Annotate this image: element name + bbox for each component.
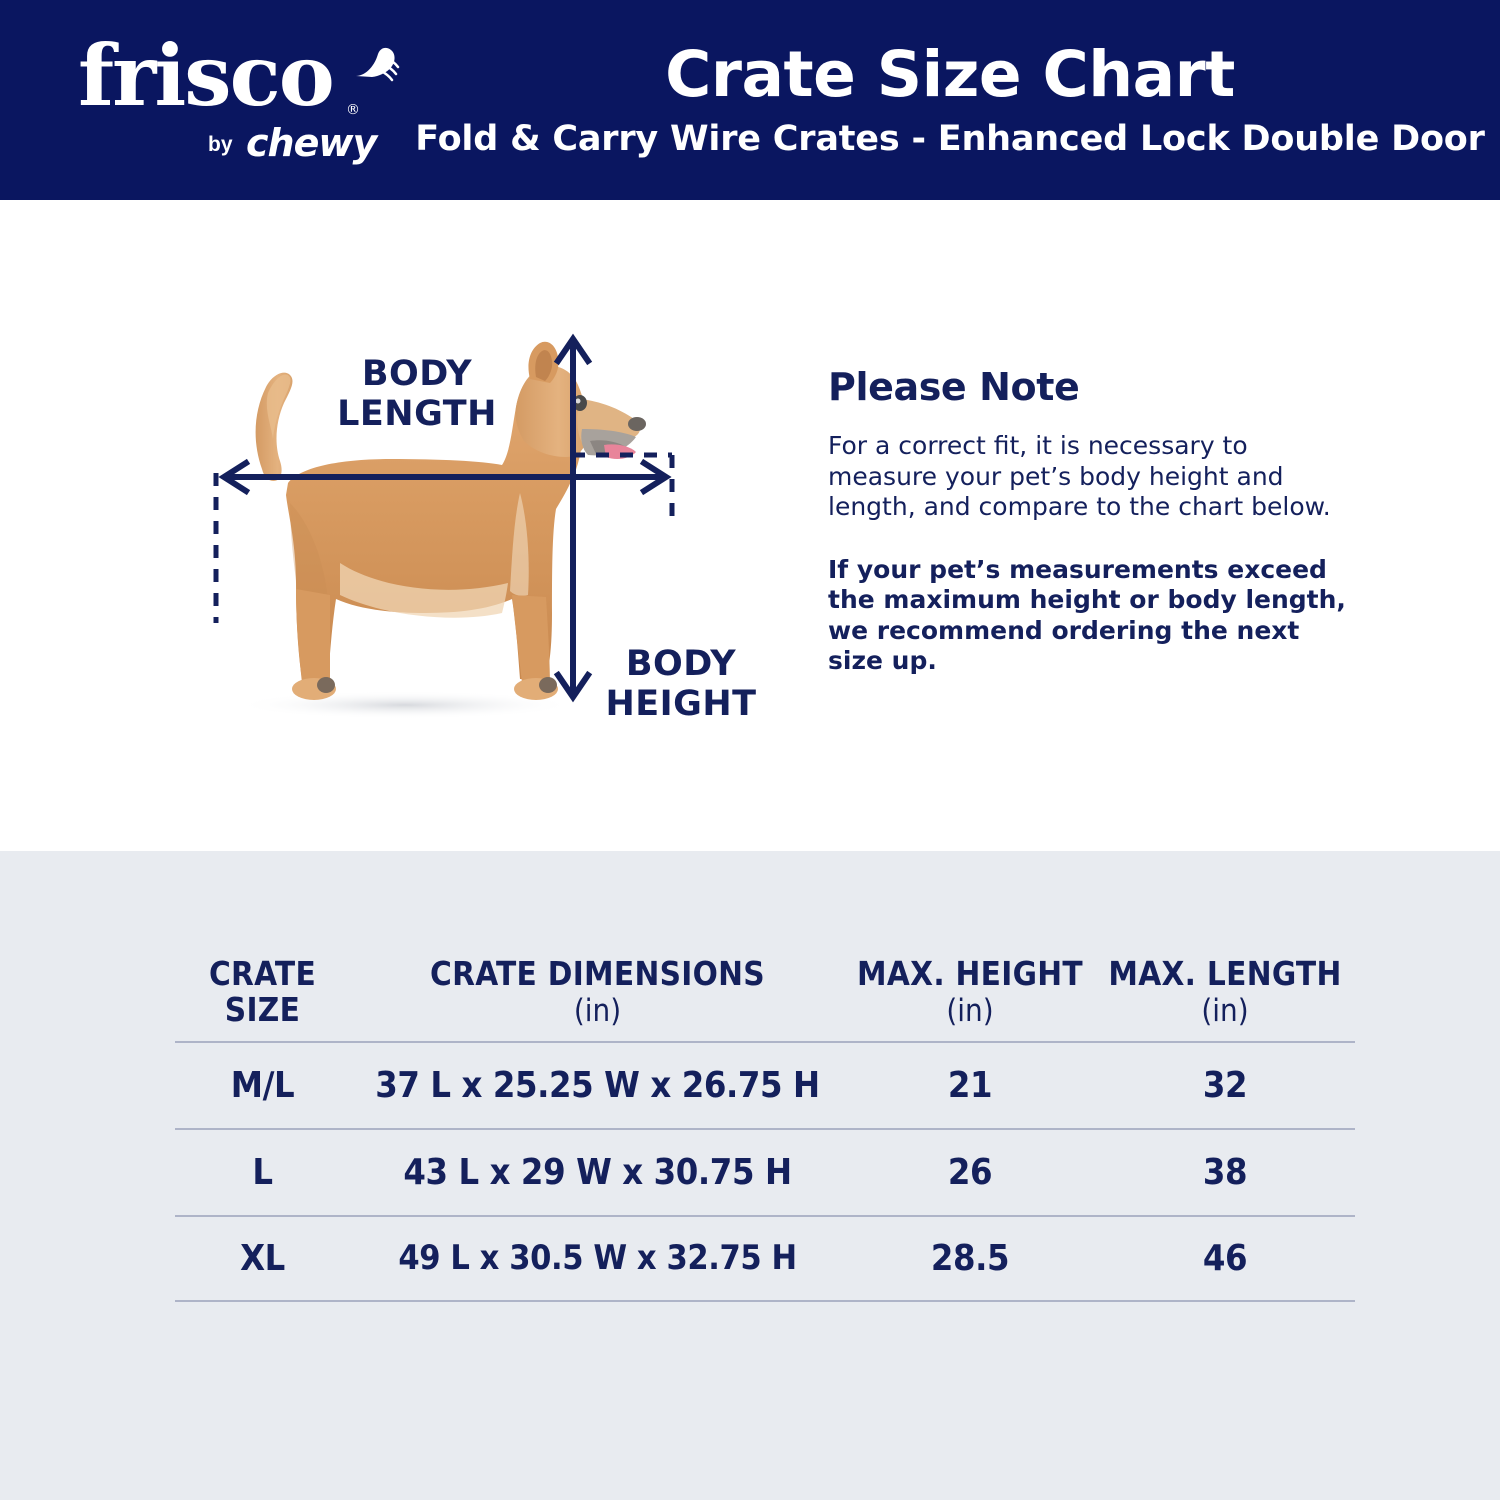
column-header-max-height-label: MAX. HEIGHT [857,954,1083,993]
cell-crate-dimensions: 43 L x 29 W x 30.75 H [350,1152,845,1193]
column-header-crate-size-label: CRATE SIZE [209,954,316,1029]
page-header: frisco ® by chewy Crate Size Chart Fold … [0,0,1500,200]
tail-swish-icon [350,46,400,90]
cell-max-length: 46 [1095,1238,1355,1279]
cell-max-height: 26 [845,1152,1095,1193]
crate-size-table: CRATE SIZE CRATE DIMENSIONS (in) MAX. HE… [175,956,1355,1302]
body-height-label: BODY HEIGHT [576,645,786,725]
cell-crate-dimensions: 49 L x 30.5 W x 32.75 H [350,1238,845,1278]
column-header-max-length: MAX. LENGTH (in) [1095,956,1355,1028]
column-header-crate-size: CRATE SIZE [175,956,350,1029]
table-row: M/L 37 L x 25.25 W x 26.75 H 21 32 [175,1041,1355,1128]
cell-crate-size: XL [175,1238,350,1279]
page-subtitle: Fold & Carry Wire Crates - Enhanced Lock… [415,119,1484,159]
table-header-row: CRATE SIZE CRATE DIMENSIONS (in) MAX. HE… [175,956,1355,1041]
cell-max-length: 38 [1095,1152,1355,1193]
chewy-wordmark: chewy [246,124,376,162]
body-length-label: BODY LENGTH [302,355,532,435]
table-row: XL 49 L x 30.5 W x 32.75 H 28.5 46 [175,1215,1355,1302]
cell-max-height: 21 [845,1065,1095,1106]
please-note-block: Please Note For a correct fit, it is nec… [828,365,1348,677]
cell-crate-dimensions: 37 L x 25.25 W x 26.75 H [350,1065,845,1106]
please-note-bold-paragraph: If your pet’s measurements exceed the ma… [828,555,1348,677]
column-header-crate-dimensions: CRATE DIMENSIONS (in) [350,956,845,1028]
column-header-max-length-unit: (in) [1095,994,1355,1028]
frisco-by-chewy-logo: frisco ® by chewy [78,34,388,164]
column-header-crate-dimensions-unit: (in) [350,994,845,1028]
logo-by-text: by [208,133,233,157]
header-title-block: Crate Size Chart Fold & Carry Wire Crate… [400,0,1500,200]
frisco-wordmark: frisco [78,34,333,118]
please-note-title: Please Note [828,365,1348,409]
cell-max-height: 28.5 [845,1238,1095,1279]
measurement-guide-section: BODY LENGTH BODY HEIGHT Please Note For … [0,200,1500,850]
column-header-max-height: MAX. HEIGHT (in) [845,956,1095,1028]
column-header-max-length-label: MAX. LENGTH [1108,954,1341,993]
please-note-paragraph: For a correct fit, it is necessary to me… [828,431,1348,523]
page-title: Crate Size Chart [665,41,1235,109]
column-header-crate-dimensions-label: CRATE DIMENSIONS [430,954,765,993]
cell-crate-size: M/L [175,1065,350,1106]
cell-max-length: 32 [1095,1065,1355,1106]
dog-measurement-diagram: BODY LENGTH BODY HEIGHT [180,325,800,745]
crate-size-chart-page: frisco ® by chewy Crate Size Chart Fold … [0,0,1500,1500]
cell-crate-size: L [175,1152,350,1193]
size-table-section: CRATE SIZE CRATE DIMENSIONS (in) MAX. HE… [0,851,1500,1500]
registered-trademark-icon: ® [346,102,360,118]
column-header-max-height-unit: (in) [845,994,1095,1028]
table-row: L 43 L x 29 W x 30.75 H 26 38 [175,1128,1355,1215]
